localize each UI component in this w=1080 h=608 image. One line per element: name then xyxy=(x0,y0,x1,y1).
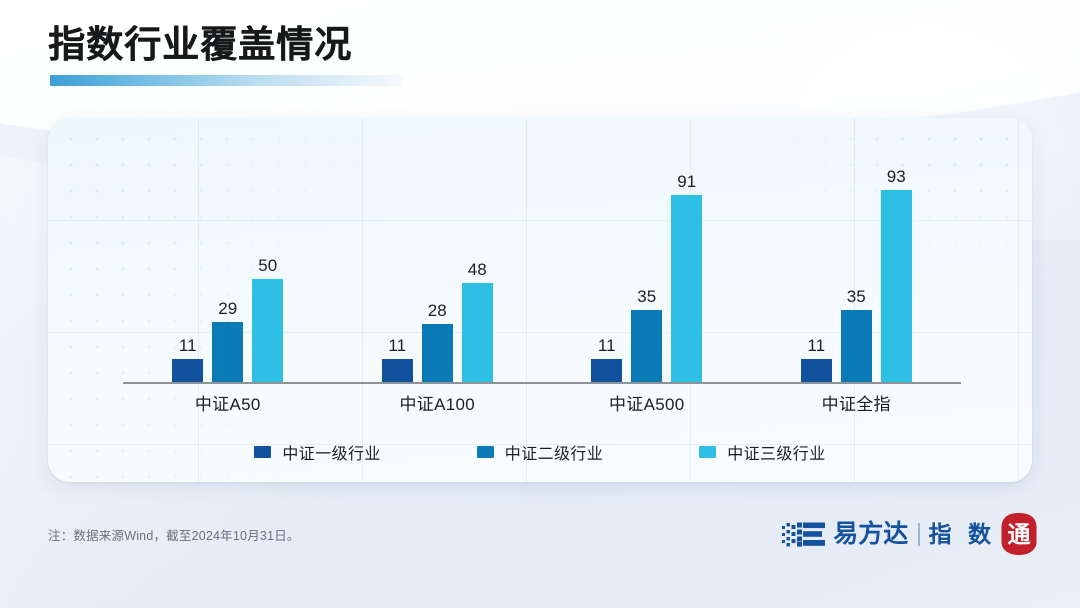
page-title: 指数行业覆盖情况 xyxy=(48,24,352,65)
bar-value-label: 29 xyxy=(218,300,237,317)
category-label: 中证A100 xyxy=(333,390,543,415)
bar-value-label: 11 xyxy=(598,337,616,354)
bar-value-label: 35 xyxy=(637,288,656,305)
category-label: 中证A500 xyxy=(542,390,752,415)
chart-bar-groups: 112950112848113591113593 xyxy=(123,136,961,382)
bar[interactable] xyxy=(462,283,493,382)
bar-value-label: 91 xyxy=(677,173,696,190)
chart-legend: 中证一级行业中证二级行业中证三级行业 xyxy=(48,440,1032,464)
category-label: 中证全指 xyxy=(752,390,962,415)
brand-name: 易方达 xyxy=(833,522,908,547)
bar-column[interactable]: 93 xyxy=(881,136,912,382)
bar-column[interactable]: 29 xyxy=(212,136,243,382)
bar-value-label: 50 xyxy=(258,257,277,274)
bar-value-label: 93 xyxy=(887,168,906,185)
bar-column[interactable]: 35 xyxy=(841,136,872,382)
brand-sub-name: 指 数 xyxy=(929,523,996,546)
bar-group: 113593 xyxy=(752,136,962,382)
source-footnote: 注：数据来源Wind，截至2024年10月31日。 xyxy=(48,525,300,544)
page-title-block: 指数行业覆盖情况 xyxy=(48,24,352,65)
bar-column[interactable]: 11 xyxy=(591,136,622,382)
bar-column[interactable]: 48 xyxy=(462,136,493,382)
brand-divider xyxy=(918,523,919,546)
bar-group-bars: 113591 xyxy=(542,136,752,382)
bar[interactable] xyxy=(252,279,283,382)
grouped-bar-chart: 112950112848113591113593 中证A50中证A100中证A5… xyxy=(48,118,1032,482)
bar-group-bars: 112950 xyxy=(123,136,333,382)
efunds-e-mark-icon xyxy=(782,521,826,548)
bar-column[interactable]: 50 xyxy=(252,136,283,382)
title-underline-bar xyxy=(50,75,402,86)
legend-label: 中证二级行业 xyxy=(505,440,603,464)
bar-column[interactable]: 11 xyxy=(172,136,203,382)
legend-swatch xyxy=(477,446,494,458)
bar[interactable] xyxy=(631,310,662,382)
legend-label: 中证三级行业 xyxy=(727,440,825,464)
bar-value-label: 35 xyxy=(847,288,866,305)
brand-logo: 易方达 指 数 通 xyxy=(782,512,1038,556)
chart-card: 112950112848113591113593 中证A50中证A100中证A5… xyxy=(48,118,1032,482)
bar[interactable] xyxy=(841,310,872,382)
bar[interactable] xyxy=(801,359,832,382)
bar-value-label: 48 xyxy=(468,261,487,278)
bar-column[interactable]: 35 xyxy=(631,136,662,382)
bar-column[interactable]: 28 xyxy=(422,136,453,382)
bar-column[interactable]: 91 xyxy=(671,136,702,382)
bar[interactable] xyxy=(422,324,453,382)
red-seal-icon: 通 xyxy=(1000,512,1038,556)
legend-swatch xyxy=(699,446,716,458)
category-label: 中证A50 xyxy=(123,390,333,415)
bar[interactable] xyxy=(212,322,243,382)
bar-column[interactable]: 11 xyxy=(382,136,413,382)
svg-text:通: 通 xyxy=(1008,522,1031,547)
bar-group-bars: 113593 xyxy=(752,136,962,382)
chart-category-labels: 中证A50中证A100中证A500中证全指 xyxy=(123,390,961,415)
legend-item[interactable]: 中证二级行业 xyxy=(477,440,603,464)
bar-group: 112950 xyxy=(123,136,333,382)
slide-canvas: 指数行业覆盖情况 112950112848113591113593 中证A50中… xyxy=(0,0,1080,608)
bar-value-label: 28 xyxy=(428,302,447,319)
bar-group: 112848 xyxy=(333,136,543,382)
bar-group-bars: 112848 xyxy=(333,136,543,382)
bar[interactable] xyxy=(591,359,622,382)
bar-column[interactable]: 11 xyxy=(801,136,832,382)
legend-swatch xyxy=(254,446,271,458)
legend-label: 中证一级行业 xyxy=(282,440,380,464)
bar[interactable] xyxy=(671,195,702,382)
bar[interactable] xyxy=(382,359,413,382)
bar[interactable] xyxy=(172,359,203,382)
bar-value-label: 11 xyxy=(807,337,825,354)
chart-x-axis-line xyxy=(123,382,961,384)
bar-value-label: 11 xyxy=(179,337,197,354)
legend-item[interactable]: 中证一级行业 xyxy=(254,440,380,464)
bar[interactable] xyxy=(881,190,912,382)
bar-group: 113591 xyxy=(542,136,752,382)
legend-item[interactable]: 中证三级行业 xyxy=(699,440,825,464)
bar-value-label: 11 xyxy=(388,337,406,354)
